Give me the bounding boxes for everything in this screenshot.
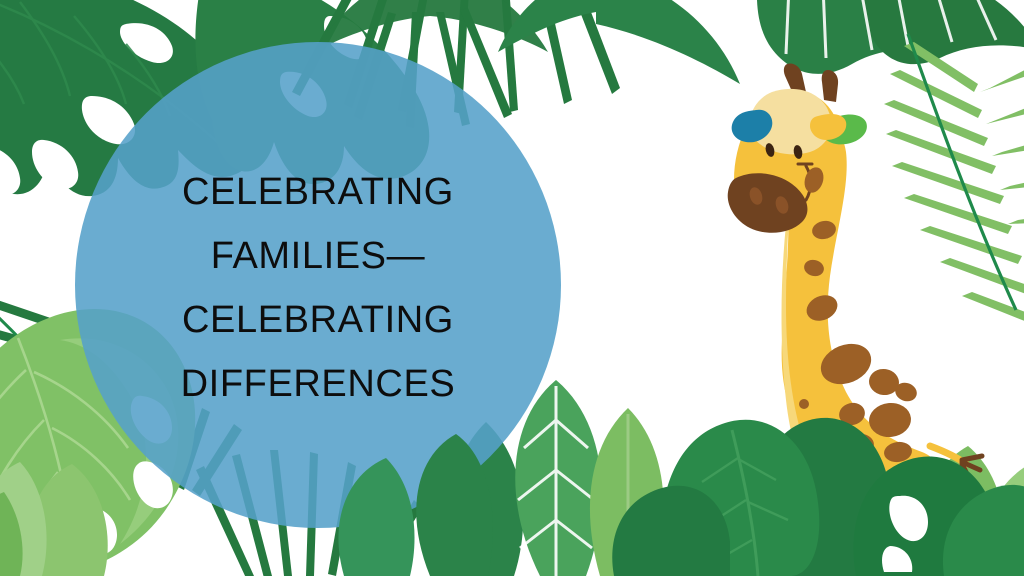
title-line-2: FAMILIES— [96,224,540,288]
title-line-1: CELEBRATING [96,160,540,224]
title-layer: CELEBRATING FAMILIES— CELEBRATING DIFFER… [0,0,1024,576]
slide-title: CELEBRATING FAMILIES— CELEBRATING DIFFER… [96,160,540,416]
title-line-4: DIFFERENCES [96,352,540,416]
title-line-3: CELEBRATING [96,288,540,352]
presentation-slide: CELEBRATING FAMILIES— CELEBRATING DIFFER… [0,0,1024,576]
